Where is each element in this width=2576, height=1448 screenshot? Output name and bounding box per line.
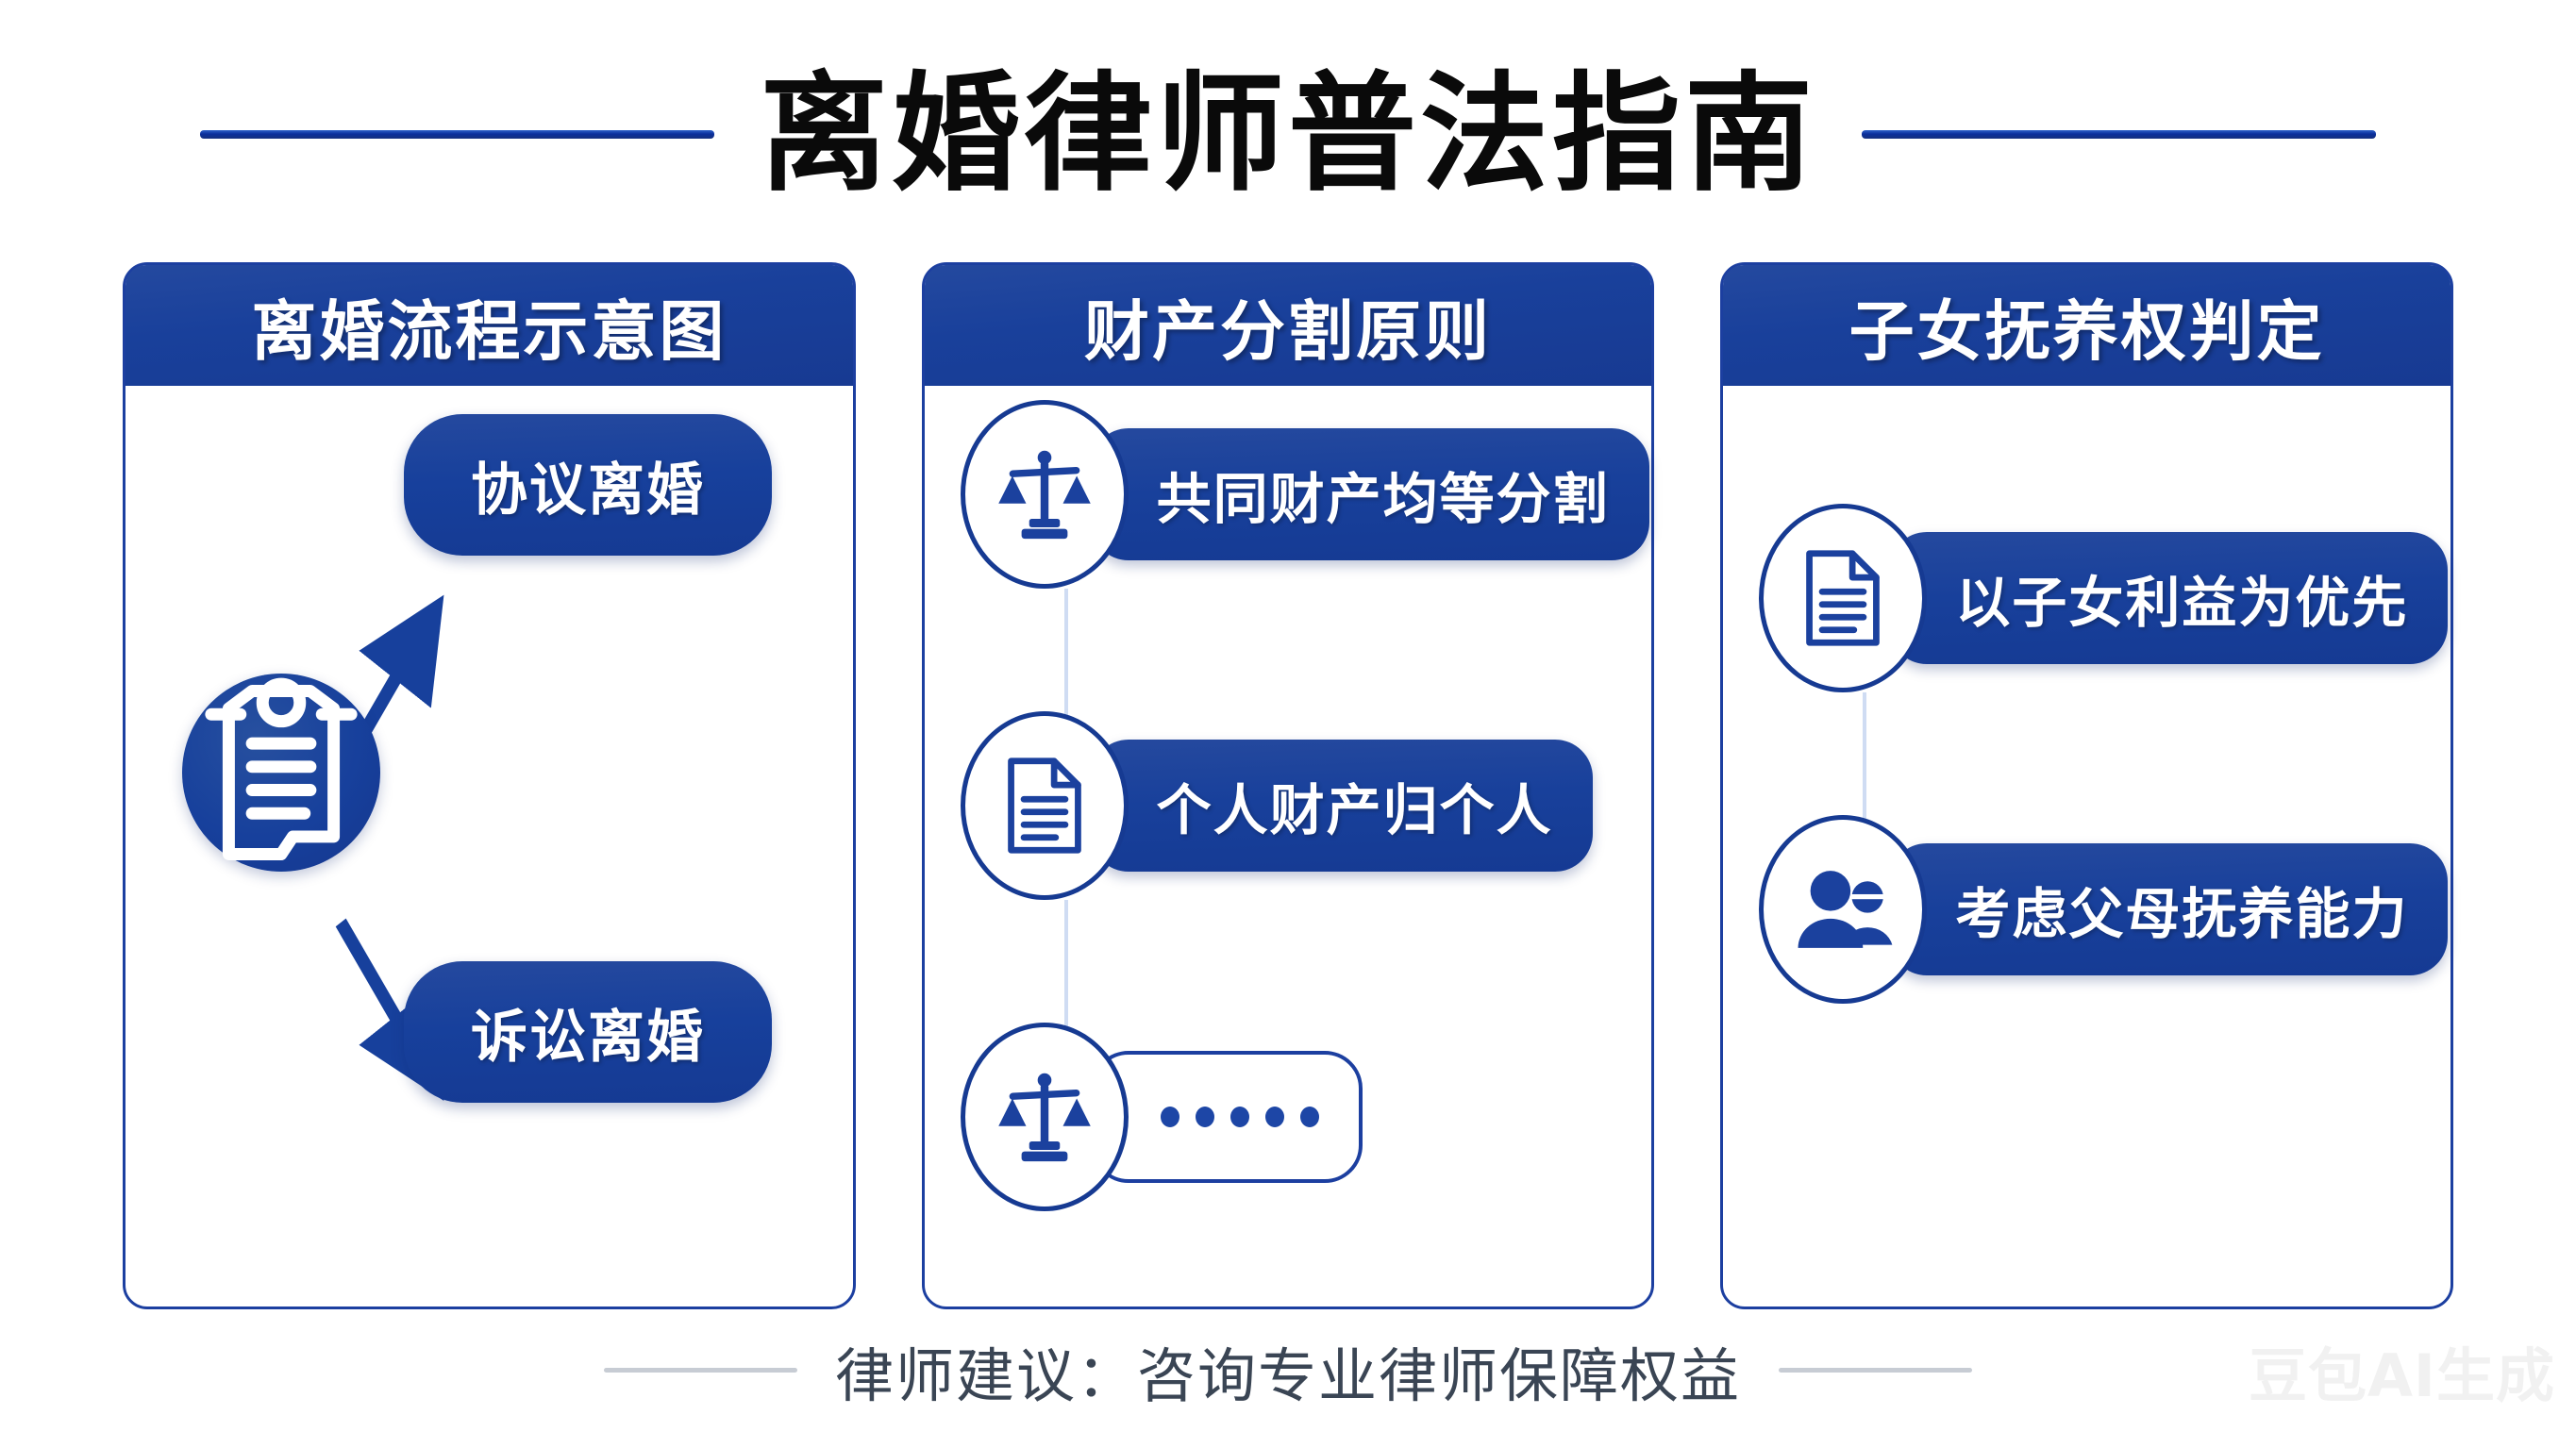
principle-label: 共同财产均等分割: [1157, 455, 1610, 534]
principle-pill: 个人财产归个人: [1091, 740, 1593, 872]
custody-pill: 以子女利益为优先: [1889, 532, 2448, 664]
card-header-property-division: 财产分割原则: [925, 265, 1652, 386]
footer-rule-right: [1779, 1368, 1972, 1373]
list-item[interactable]: [961, 1023, 1363, 1211]
card-grid: 离婚流程示意图: [123, 262, 2453, 1309]
custody-label: 以子女利益为优先: [1955, 558, 2408, 638]
principle-list: 共同财产均等分割 个人财产归个人: [925, 386, 1652, 1307]
custody-list: 以子女利益为优先 考虑父母抚养: [1723, 386, 2451, 1307]
card-title: 子女抚养权判定: [1849, 278, 2325, 373]
card-body-child-custody: 以子女利益为优先 考虑父母抚养: [1723, 386, 2451, 1307]
card-body-property-division: 共同财产均等分割 个人财产归个人: [925, 386, 1652, 1307]
document-icon: [1759, 504, 1927, 692]
card-title: 财产分割原则: [1084, 278, 1492, 373]
flow-node-label: 协议离婚: [471, 444, 705, 526]
principle-pill-placeholder: [1091, 1051, 1363, 1183]
custody-label: 考虑父母抚养能力: [1955, 870, 2408, 949]
list-item[interactable]: 个人财产归个人: [961, 711, 1593, 900]
people-icon: [1759, 815, 1927, 1004]
principle-label: 个人财产归个人: [1157, 766, 1553, 845]
footer-advice-text: 律师建议：咨询专业律师保障权益: [835, 1328, 1741, 1413]
page-footer: 律师建议：咨询专业律师保障权益: [0, 1321, 2576, 1420]
watermark: 豆包AI生成: [2249, 1328, 2555, 1413]
card-title: 离婚流程示意图: [251, 278, 727, 373]
document-icon: [961, 711, 1129, 900]
custody-pill: 考虑父母抚养能力: [1889, 843, 2448, 975]
flow-node-agreed-divorce[interactable]: 协议离婚: [404, 414, 772, 556]
principle-pill: 共同财产均等分割: [1091, 428, 1649, 560]
card-header-child-custody: 子女抚养权判定: [1723, 265, 2451, 386]
list-item[interactable]: 共同财产均等分割: [961, 400, 1649, 589]
page-header: 离婚律师普法指南: [0, 47, 2576, 222]
card-body-divorce-process: 协议离婚 诉讼离婚: [125, 386, 853, 1307]
scales-icon: [961, 400, 1129, 589]
card-divorce-process: 离婚流程示意图: [123, 262, 856, 1309]
footer-rule-left: [604, 1368, 797, 1373]
flow-node-litigated-divorce[interactable]: 诉讼离婚: [404, 961, 772, 1103]
card-header-divorce-process: 离婚流程示意图: [125, 265, 853, 386]
flow-node-label: 诉讼离婚: [471, 991, 705, 1074]
card-child-custody: 子女抚养权判定 以子女利益为优先: [1720, 262, 2453, 1309]
flow-diagram: 协议离婚 诉讼离婚: [125, 386, 853, 1307]
flow-hub-node[interactable]: [182, 674, 380, 872]
list-item[interactable]: 以子女利益为优先: [1759, 504, 2448, 692]
scales-icon: [961, 1023, 1129, 1211]
title-rule-right: [1862, 130, 2376, 139]
page-title: 离婚律师普法指南: [760, 71, 1816, 199]
title-rule-left: [200, 130, 714, 139]
ellipsis-dots: [1161, 1107, 1319, 1127]
list-item[interactable]: 考虑父母抚养能力: [1759, 815, 2448, 1004]
card-property-division: 财产分割原则: [922, 262, 1655, 1309]
